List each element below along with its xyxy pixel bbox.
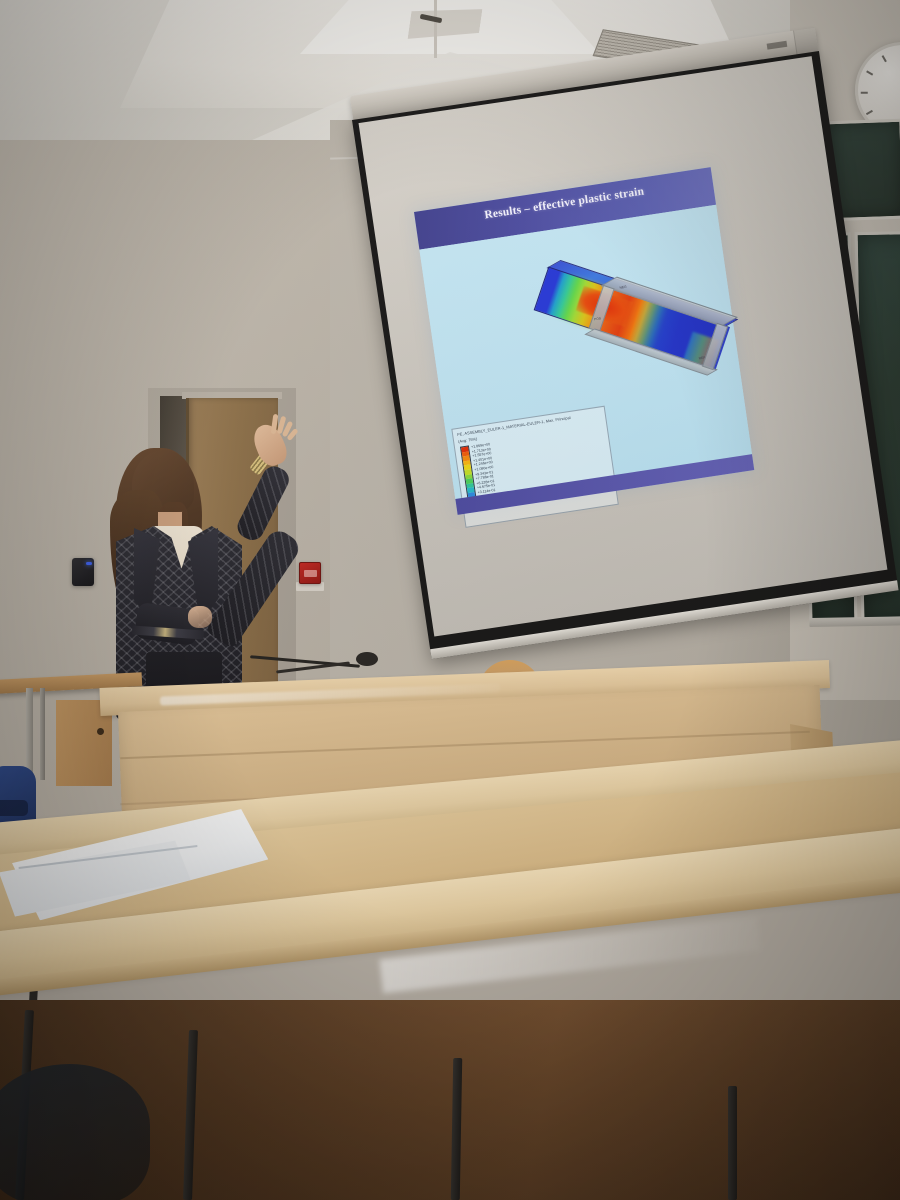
desk-leg xyxy=(728,1086,737,1200)
lecture-hall-photo: ~ 2) )2 .. Results – effective plastic s… xyxy=(0,0,900,1200)
projected-slide: Results – effective plastic strain NEG P… xyxy=(414,167,754,515)
cabinet-knob-icon[interactable] xyxy=(97,728,104,735)
legend-header: PE, ASSEMBLY_EULER-1_MATERIAL-EULER-1, M… xyxy=(457,415,571,437)
presenter-resting-hand xyxy=(188,606,212,628)
screen-brand-logo xyxy=(767,41,788,50)
side-table-leg xyxy=(26,688,33,780)
foreground-chair xyxy=(0,1064,150,1200)
backpack-flap xyxy=(0,800,28,816)
chalkboard-tray xyxy=(809,616,900,627)
wall-sensor-icon[interactable] xyxy=(72,558,94,586)
sensor-led-icon xyxy=(86,562,92,565)
slide-body: NEG POS REF PE, ASSEMBLY_EULER-1_MATERIA… xyxy=(419,205,752,499)
desk-object xyxy=(356,652,378,666)
side-table-leg xyxy=(40,688,45,780)
fea-contour-model: NEG POS REF xyxy=(511,234,745,438)
legend-subheader: (Avg: 75%) xyxy=(458,436,478,444)
ceiling-pipe-drop xyxy=(434,0,437,58)
